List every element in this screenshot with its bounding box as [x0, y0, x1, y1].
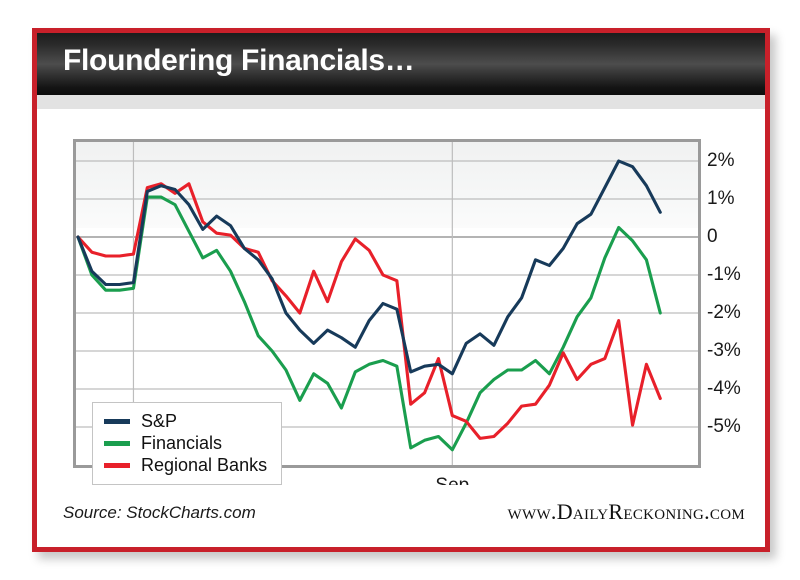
legend-swatch-sp [104, 419, 130, 424]
y-axis-tick-1: 1% [707, 188, 734, 210]
legend-label-regional-banks: Regional Banks [141, 455, 267, 476]
title-bar: Floundering Financials… [37, 33, 765, 95]
legend-item-regional-banks: Regional Banks [104, 454, 267, 476]
y-axis-tick-4: -2% [707, 302, 741, 324]
legend-item-financials: Financials [104, 432, 267, 454]
y-axis-labels: 2%1%0-1%-2%-3%-4%-5% [707, 139, 771, 468]
y-axis-tick-0: 2% [707, 150, 734, 172]
chart-legend: S&P Financials Regional Banks [92, 402, 282, 485]
legend-swatch-financials [104, 441, 130, 446]
header-divider-strip [37, 95, 765, 109]
legend-swatch-regional-banks [104, 463, 130, 468]
screenshot-root: Floundering Financials… 2%1%0-1%-2%-3%-4… [0, 0, 800, 580]
chart-card: Floundering Financials… 2%1%0-1%-2%-3%-4… [32, 28, 770, 552]
legend-item-sp: S&P [104, 410, 267, 432]
y-axis-tick-6: -4% [707, 378, 741, 400]
y-axis-tick-2: 0 [707, 226, 718, 248]
website-credit: www.DailyReckoning.com [508, 499, 745, 525]
legend-label-sp: S&P [141, 411, 177, 432]
source-attribution: Source: StockCharts.com [63, 503, 256, 523]
legend-label-financials: Financials [141, 433, 222, 454]
y-axis-tick-7: -5% [707, 416, 741, 438]
y-axis-tick-5: -3% [707, 340, 741, 362]
y-axis-tick-3: -1% [707, 264, 741, 286]
page-title: Floundering Financials… [63, 44, 414, 78]
chart-body: 2%1%0-1%-2%-3%-4%-5% AugSep S&P Financia… [37, 95, 765, 547]
chart-footer: Source: StockCharts.com www.DailyReckoni… [37, 485, 765, 547]
